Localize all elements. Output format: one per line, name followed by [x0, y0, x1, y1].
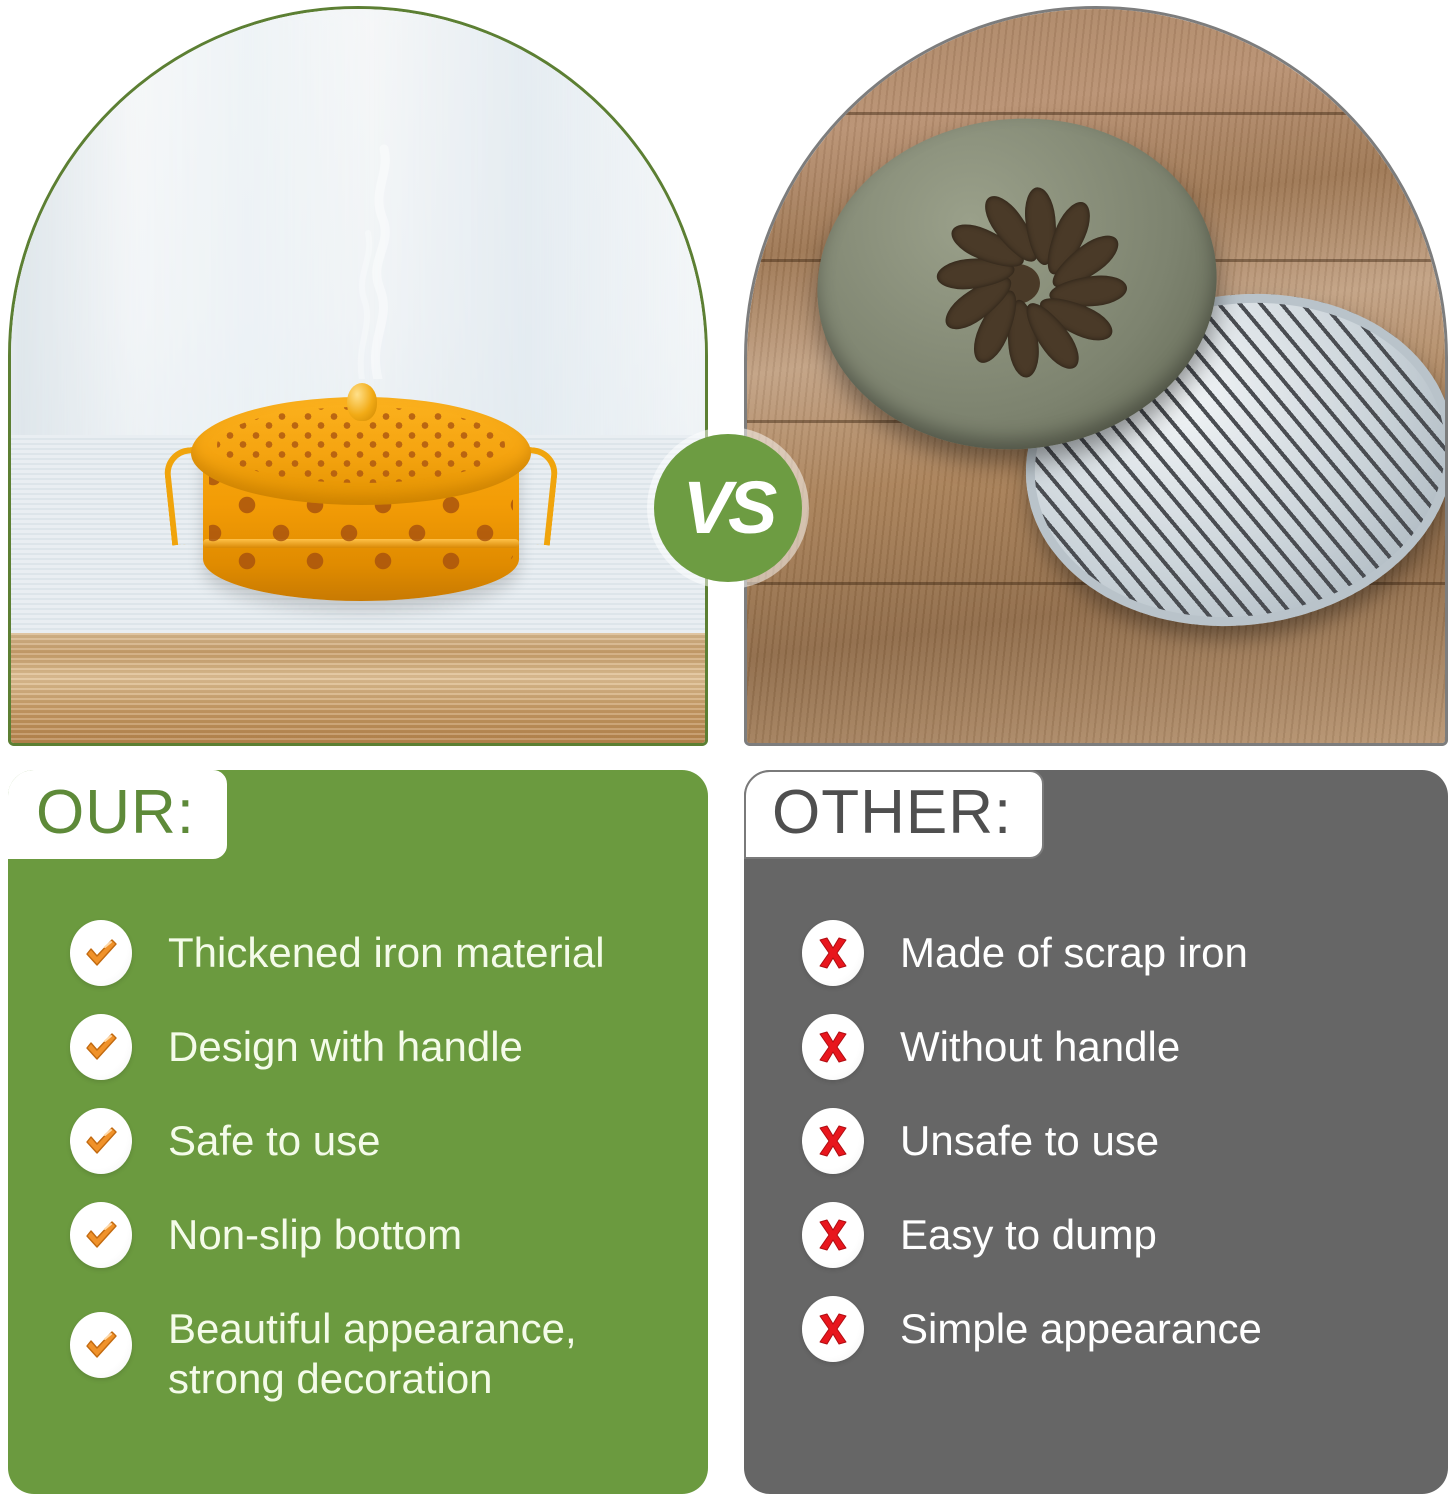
red-cross-icon	[802, 1108, 864, 1174]
smoke-wisp-icon	[316, 129, 436, 379]
other-heading-label: OTHER:	[772, 778, 1012, 847]
list-item: Safe to use	[8, 1108, 682, 1174]
list-item: Made of scrap iron	[744, 920, 1422, 986]
our-heading-label: OUR:	[36, 778, 195, 847]
plank-line	[744, 112, 1448, 115]
lid-knob	[347, 383, 377, 421]
orange-check-icon	[70, 1108, 132, 1174]
list-item-label: Simple appearance	[900, 1296, 1262, 1354]
list-item-label: Without handle	[900, 1014, 1180, 1072]
list-item-label: Easy to dump	[900, 1202, 1157, 1260]
list-item: Beautiful appearance, strong decoration	[8, 1296, 682, 1403]
list-item-label: Safe to use	[168, 1108, 380, 1166]
our-features-panel: OUR: Thickened iron material	[8, 770, 708, 1494]
list-item-label: Design with handle	[168, 1014, 523, 1072]
red-cross-icon	[802, 1296, 864, 1362]
list-item-label: Unsafe to use	[900, 1108, 1159, 1166]
other-feature-list: Made of scrap iron Without handle Unsafe…	[744, 920, 1448, 1362]
our-photo-scene	[11, 9, 705, 743]
other-photo-scene	[747, 9, 1445, 743]
our-feature-list: Thickened iron material Design with hand…	[8, 920, 708, 1403]
list-item-label: Thickened iron material	[168, 920, 605, 978]
list-item-label: Made of scrap iron	[900, 920, 1248, 978]
other-features-panel: OTHER: Made of scrap iron Without handle	[744, 770, 1448, 1494]
list-item: Simple appearance	[744, 1296, 1422, 1362]
list-item: Design with handle	[8, 1014, 682, 1080]
vs-label: VS	[683, 471, 774, 545]
our-product-photo	[8, 6, 708, 746]
red-cross-icon	[802, 920, 864, 986]
list-item-label: Non-slip bottom	[168, 1202, 462, 1260]
list-item: Unsafe to use	[744, 1108, 1422, 1174]
our-heading-tag: OUR:	[8, 770, 227, 859]
list-item-label: Beautiful appearance, strong decoration	[168, 1296, 608, 1403]
list-item: Without handle	[744, 1014, 1422, 1080]
yellow-coil-holder	[161, 361, 561, 631]
red-cross-icon	[802, 1014, 864, 1080]
table-edge	[11, 633, 705, 743]
vs-badge: VS	[654, 434, 802, 582]
list-item: Non-slip bottom	[8, 1202, 682, 1268]
orange-check-icon	[70, 1014, 132, 1080]
orange-check-icon	[70, 1202, 132, 1268]
other-product-photo	[744, 6, 1448, 746]
orange-check-icon	[70, 920, 132, 986]
other-heading-tag: OTHER:	[744, 770, 1044, 859]
list-item: Thickened iron material	[8, 920, 682, 986]
red-cross-icon	[802, 1202, 864, 1268]
list-item: Easy to dump	[744, 1202, 1422, 1268]
orange-check-icon	[70, 1312, 132, 1378]
comparison-infographic: VS OUR: Thickened iron material	[0, 0, 1456, 1500]
